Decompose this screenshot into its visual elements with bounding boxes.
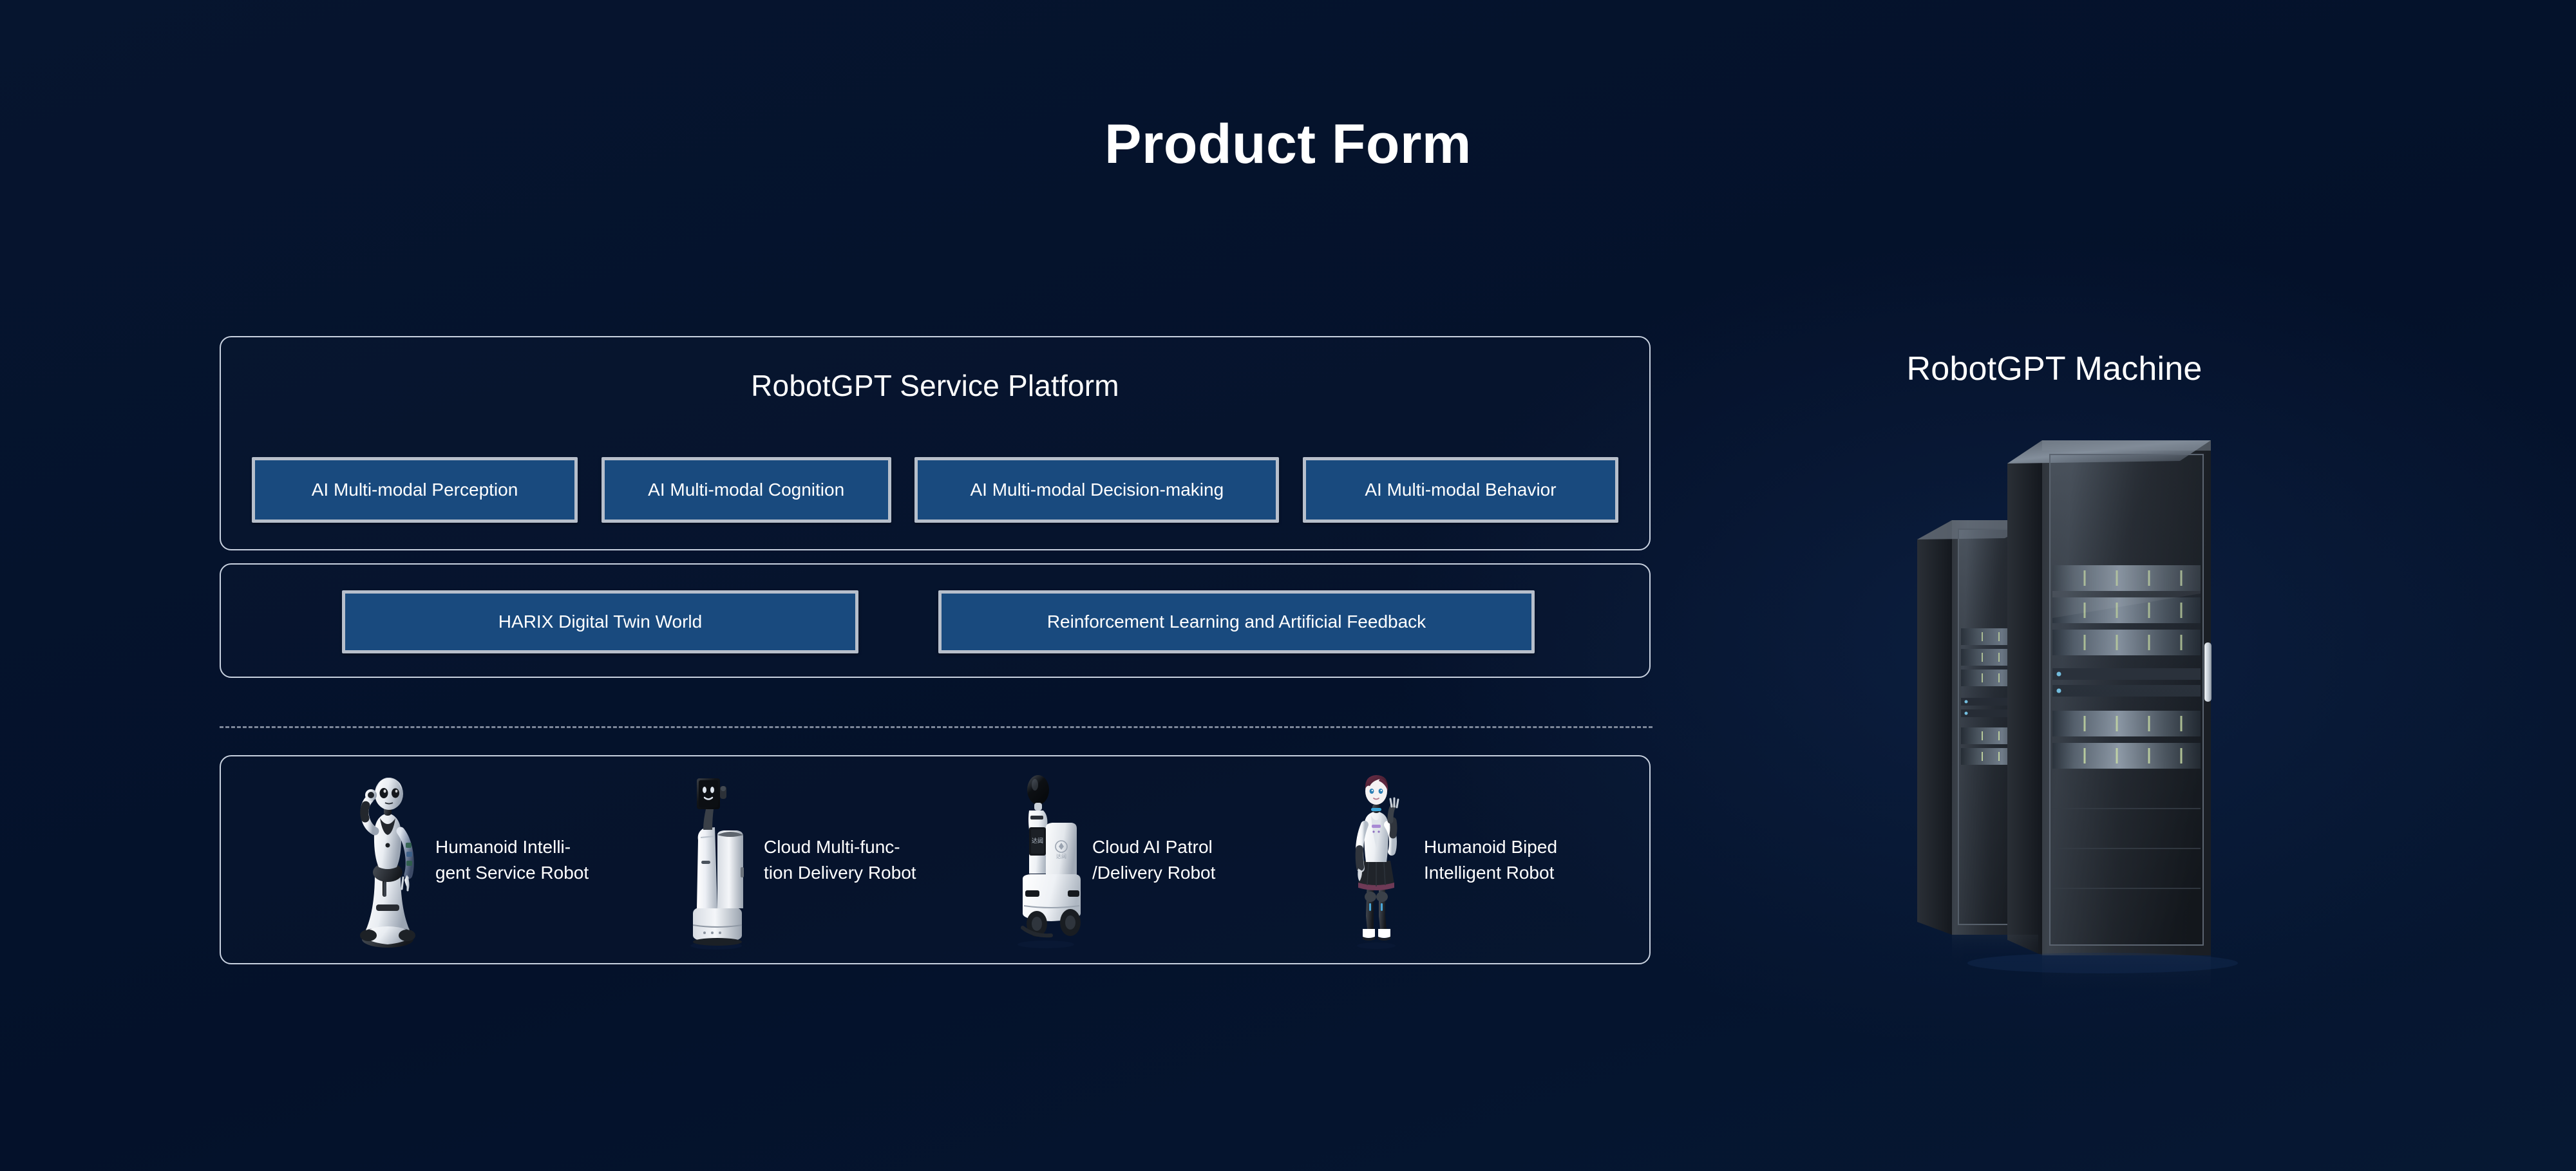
page-title: Product Form xyxy=(0,113,2576,176)
middleware-chip-reinforcement-learning[interactable]: Reinforcement Learning and Artificial Fe… xyxy=(938,590,1535,653)
robot-product-label: Cloud AI Patrol /Delivery Robot xyxy=(1092,834,1215,886)
platform-panel: RobotGPT Service Platform AI Multi-modal… xyxy=(220,336,1651,550)
robot-product-item[interactable]: Humanoid Intelli- gent Service Robot xyxy=(346,756,589,963)
capability-chip-decision-making[interactable]: AI Multi-modal Decision-making xyxy=(914,457,1279,523)
middleware-chip-harix-digital-twin[interactable]: HARIX Digital Twin World xyxy=(342,590,858,653)
robot-product-label: Cloud Multi-func- tion Delivery Robot xyxy=(764,834,916,886)
robot-product-item[interactable]: Cloud Multi-func- tion Delivery Robot xyxy=(675,756,916,963)
robot-products-panel: Humanoid Intelli- gent Service Robot xyxy=(220,755,1651,964)
capability-chip-row: AI Multi-modal Perception AI Multi-modal… xyxy=(252,457,1618,523)
cloud-patrol-robot-icon: 达闼 达闼 xyxy=(1003,771,1086,950)
capability-chip-perception[interactable]: AI Multi-modal Perception xyxy=(252,457,578,523)
svg-text:达闼: 达闼 xyxy=(1056,853,1066,859)
humanoid-biped-robot-icon xyxy=(1335,771,1417,950)
machine-title: RobotGPT Machine xyxy=(1777,350,2331,388)
robot-product-label: Humanoid Intelli- gent Service Robot xyxy=(435,834,589,886)
robot-product-item[interactable]: Humanoid Biped Intelligent Robot xyxy=(1335,756,1557,963)
svg-text:达闼: 达闼 xyxy=(1032,837,1043,844)
capability-chip-behavior[interactable]: AI Multi-modal Behavior xyxy=(1303,457,1618,523)
robot-product-label: Humanoid Biped Intelligent Robot xyxy=(1424,834,1557,886)
robot-product-row: Humanoid Intelli- gent Service Robot xyxy=(221,756,1649,963)
capability-chip-cognition[interactable]: AI Multi-modal Cognition xyxy=(601,457,891,523)
cloud-delivery-robot-icon xyxy=(675,771,757,950)
slide-canvas: Product Form RobotGPT Service Platform A… xyxy=(0,0,2576,1171)
platform-title: RobotGPT Service Platform xyxy=(221,368,1649,403)
middleware-panel: HARIX Digital Twin World Reinforcement L… xyxy=(220,563,1651,678)
robot-product-item[interactable]: 达闼 达闼 xyxy=(1003,756,1215,963)
server-rack-icon xyxy=(1909,425,2244,1030)
section-divider xyxy=(220,726,1653,728)
humanoid-service-robot-icon xyxy=(346,771,429,950)
